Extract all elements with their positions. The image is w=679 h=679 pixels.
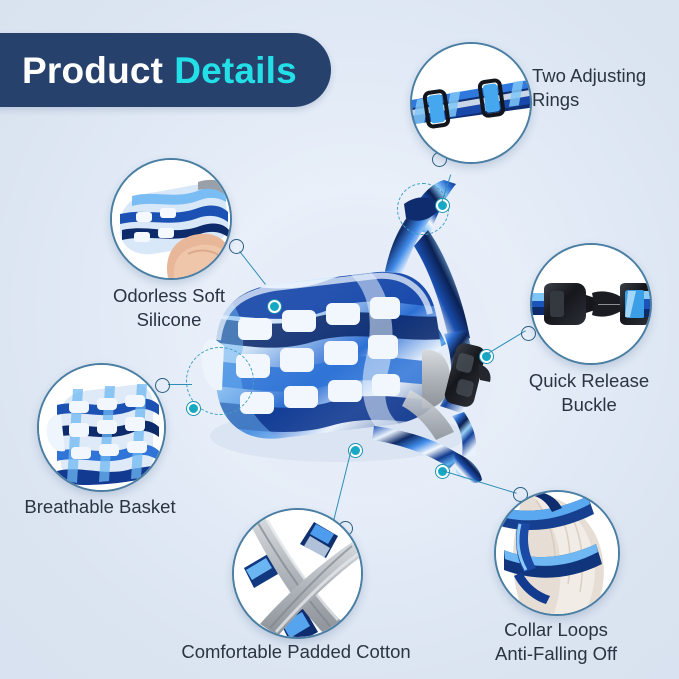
callout-image-quick-release-buckle: [530, 243, 652, 365]
callout-label-quick-release-buckle: Quick Release Buckle: [514, 369, 664, 416]
callout-two-adjusting-rings[interactable]: Two Adjusting Rings: [410, 42, 532, 164]
callout-label-two-adjusting-rings: Two Adjusting Rings: [532, 64, 679, 111]
callout-quick-release-buckle[interactable]: Quick Release Buckle: [530, 243, 652, 365]
callout-label-odorless-soft-silicone: Odorless Soft Silicone: [78, 284, 260, 331]
callout-odorless-soft-silicone[interactable]: Odorless Soft Silicone: [110, 158, 232, 280]
callout-image-two-adjusting-rings: [410, 42, 532, 164]
page-title-word-details: Details: [174, 50, 297, 91]
anchor-dot-basket: [187, 402, 200, 415]
callout-breathable-basket[interactable]: Breathable Basket: [37, 363, 166, 492]
anchor-dot-silicone: [268, 300, 281, 313]
callout-comfortable-padded-cotton[interactable]: Comfortable Padded Cotton: [232, 508, 363, 639]
connector-line-basket: [168, 384, 192, 385]
page-title-word-product: Product: [22, 50, 163, 91]
callout-image-comfortable-padded-cotton: [232, 508, 363, 639]
product-details-infographic: ProductDetails: [0, 0, 679, 679]
page-title-banner: ProductDetails: [0, 33, 331, 107]
callout-label-comfortable-padded-cotton: Comfortable Padded Cotton: [178, 640, 414, 664]
callout-image-breathable-basket: [37, 363, 166, 492]
callout-image-odorless-soft-silicone: [110, 158, 232, 280]
callout-label-collar-loops: Collar Loops Anti-Falling Off: [468, 618, 644, 665]
callout-collar-loops[interactable]: Collar Loops Anti-Falling Off: [494, 490, 620, 616]
callout-label-breathable-basket: Breathable Basket: [24, 495, 176, 519]
page-title: ProductDetails: [22, 52, 297, 89]
callout-image-collar-loops: [494, 490, 620, 616]
